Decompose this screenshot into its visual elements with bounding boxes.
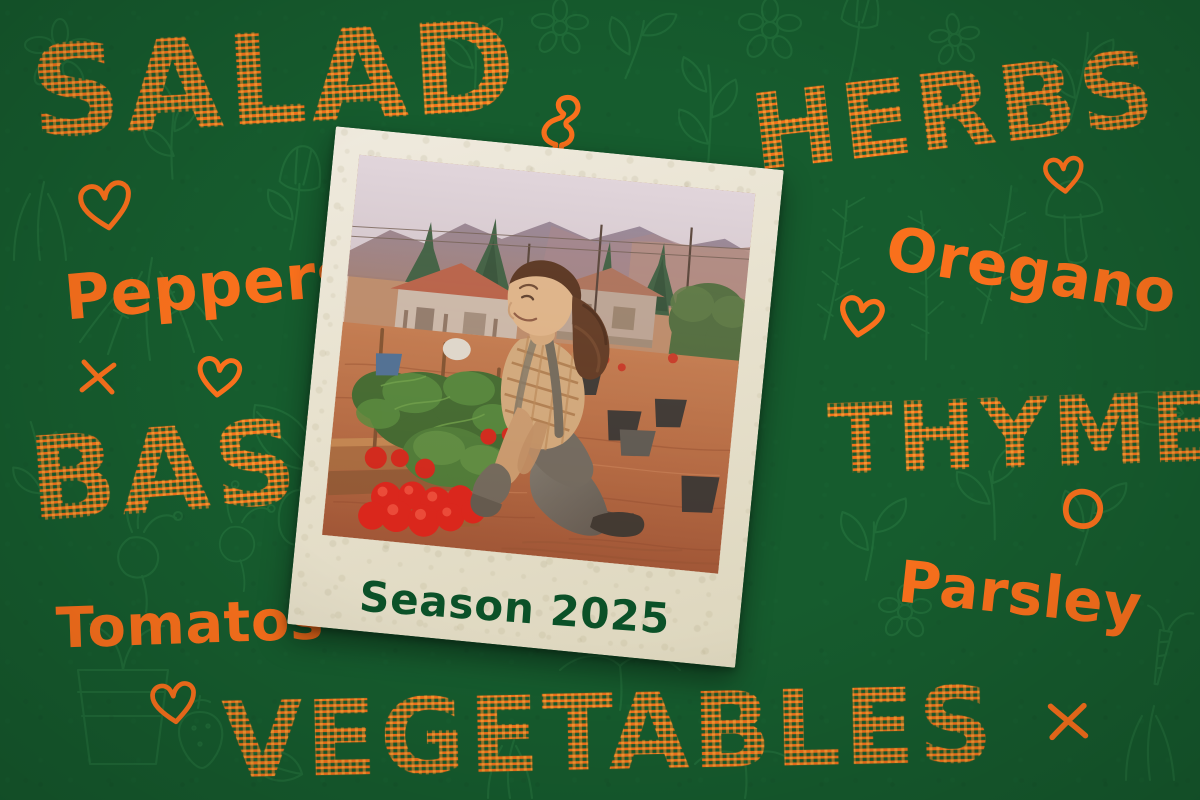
x-mark-icon [1047, 701, 1089, 741]
heart-icon [75, 176, 138, 235]
polaroid-caption: Season 2025 [289, 567, 741, 649]
label-peppers: Peppers [61, 236, 356, 334]
label-parsley: Parsley [895, 547, 1145, 640]
heart-icon [835, 291, 888, 342]
heart-icon [194, 353, 244, 402]
headline-vegetables: VEGETABLES [221, 664, 997, 800]
headline-herbs: HERBS [744, 27, 1163, 194]
polaroid-photo-card[interactable]: Season 2025 [287, 126, 784, 668]
x-mark-icon [79, 359, 117, 395]
heart-icon [148, 678, 201, 729]
label-oregano: Oregano [881, 214, 1181, 329]
headline-thyme: THYME [826, 371, 1200, 497]
poster-canvas: SALAD HERBS BASIL THYME VEGETABLES Peppe… [0, 0, 1200, 800]
circle-mark-icon [1058, 484, 1108, 534]
garden-photo [322, 155, 755, 574]
label-tomatos: Tomatos [55, 587, 325, 661]
